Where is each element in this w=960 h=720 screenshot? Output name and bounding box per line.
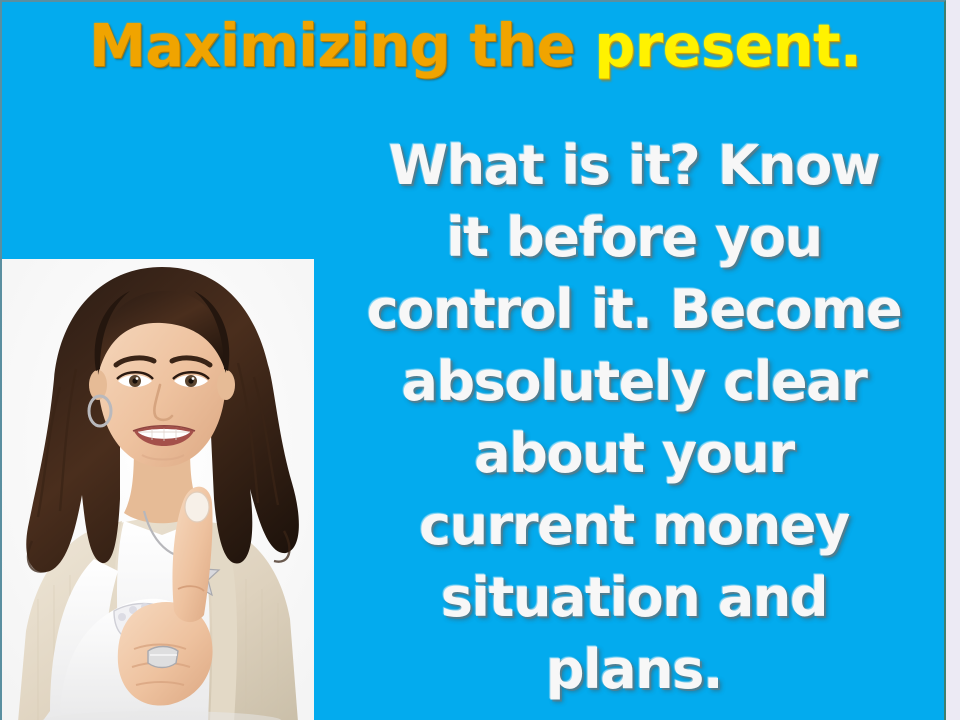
body-line: absolutely clear [320,346,946,418]
silver-ring [148,647,178,668]
body-line: it before you [320,202,946,274]
slide-title: Maximizing the present. [2,16,946,75]
right-ear [217,370,235,400]
thumbs-up-woman-illustration [2,259,314,720]
slide-title-part-one: Maximizing the [89,11,594,80]
slide-title-text: Maximizing the present. [89,16,861,75]
body-line: control it. Become [320,274,946,346]
body-line: current money [320,490,946,562]
presentation-slide: Maximizing the present. What is it? Know… [0,0,960,720]
body-line: about your [320,418,946,490]
thumbnail [185,492,209,522]
body-line: What is it? Know [320,130,946,202]
slide-stage: Maximizing the present. What is it? Know… [0,0,946,720]
body-line: plans. [320,634,946,706]
thumbs-up-woman-photo [2,259,314,720]
slide-title-part-two: present. [594,11,861,80]
slide-body-text: What is it? Know it before you control i… [320,130,946,706]
body-line: situation and [320,562,946,634]
